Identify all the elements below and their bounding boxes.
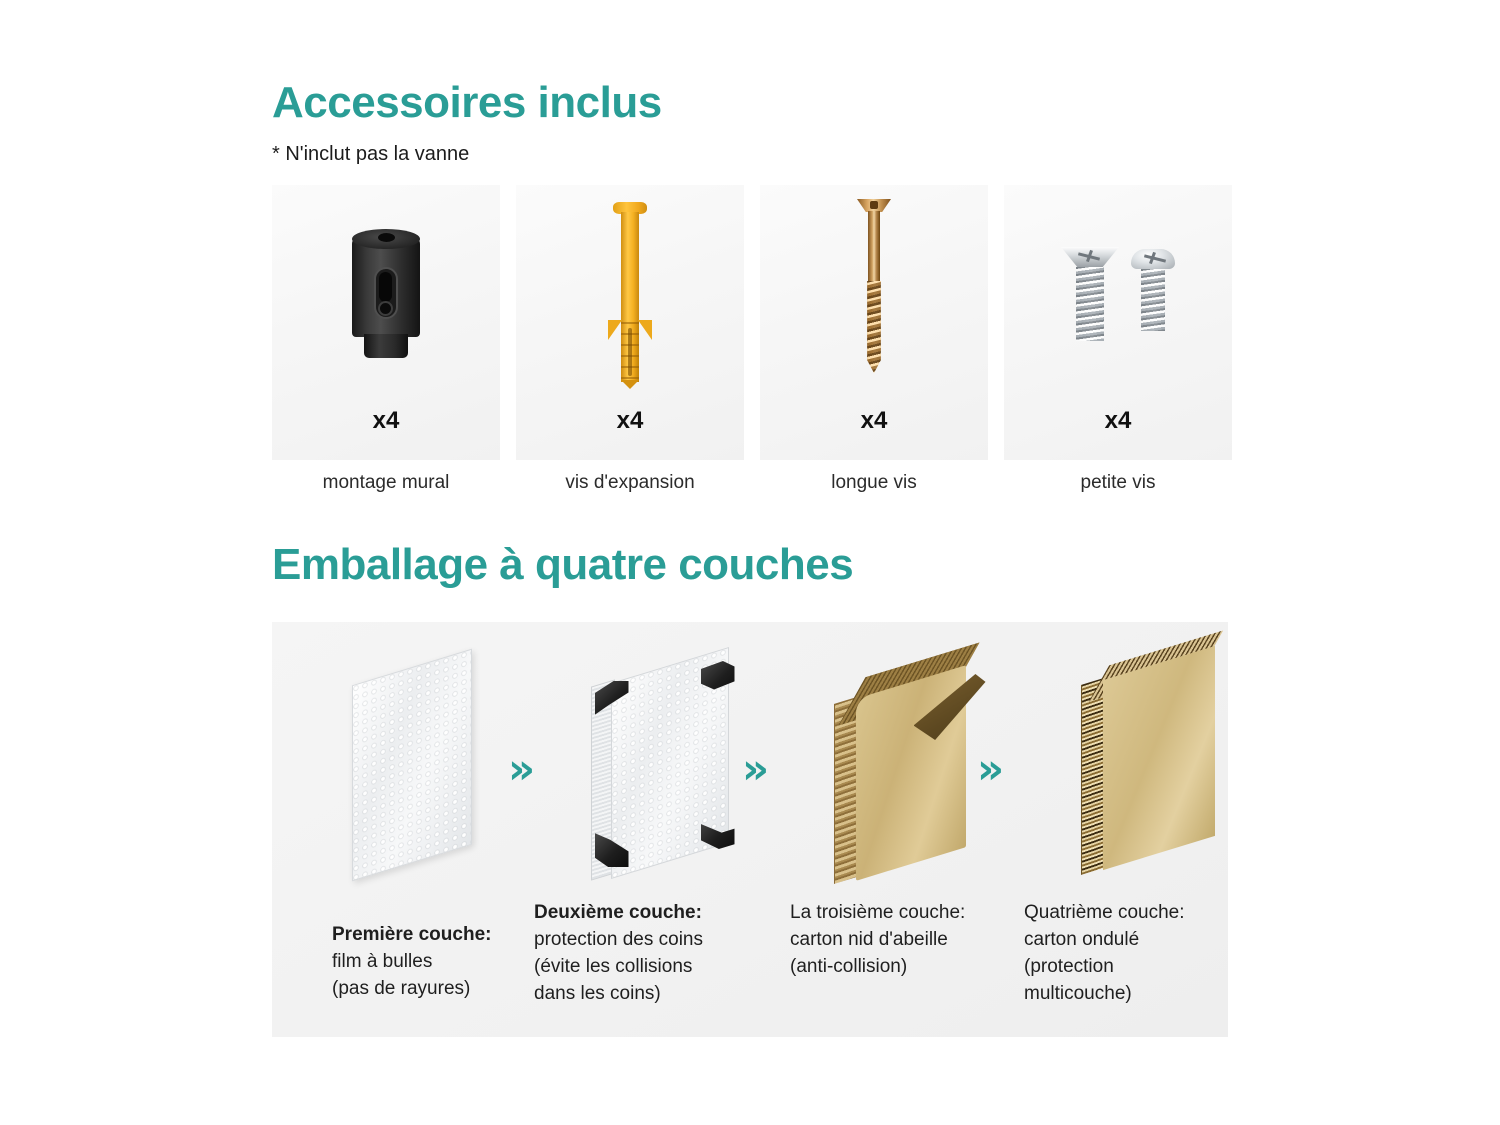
long-screw-icon bbox=[760, 185, 988, 403]
chevron-right-icon: » bbox=[508, 748, 535, 790]
packaging-layer-caption: La troisième couche: carton nid d'abeill… bbox=[790, 900, 1005, 981]
layer-line: protection des coins bbox=[534, 929, 703, 950]
packaging-layer-caption: Première couche: film à bulles (pas de r… bbox=[332, 922, 547, 1003]
layer-line: film à bulles bbox=[332, 951, 432, 972]
accessory-caption: montage mural bbox=[272, 472, 500, 494]
layer-lead: Première couche: bbox=[332, 922, 547, 949]
accessories-section-title: Accessoires inclus bbox=[272, 78, 662, 128]
expansion-anchor-icon bbox=[516, 185, 744, 403]
accessory-card-wall-mount: x4 bbox=[272, 185, 500, 460]
packaging-layer-caption: Quatrième couche: carton ondulé (protect… bbox=[1024, 900, 1224, 1008]
packaging-layers-row: » » » bbox=[272, 640, 1228, 890]
accessory-caption: longue vis bbox=[760, 472, 988, 494]
layer-line: multicouche) bbox=[1024, 983, 1132, 1004]
layer-line: (pas de rayures) bbox=[332, 978, 470, 999]
quantity-badge: x4 bbox=[760, 407, 988, 435]
layer-line: (évite les collisions bbox=[534, 956, 692, 977]
quantity-badge: x4 bbox=[516, 407, 744, 435]
accessory-card-small-screw: x4 bbox=[1004, 185, 1232, 460]
layer-line: (protection bbox=[1024, 956, 1114, 977]
packaging-layer-caption: Deuxième couche: protection des coins (é… bbox=[534, 900, 754, 1008]
wall-mount-icon bbox=[272, 185, 500, 403]
accessories-captions: montage mural vis d'expansion longue vis… bbox=[272, 472, 1228, 494]
bubble-film-icon bbox=[324, 640, 499, 890]
accessories-note: * N'inclut pas la vanne bbox=[272, 143, 469, 166]
honeycomb-board-icon bbox=[820, 640, 995, 890]
layer-lead: Deuxième couche: bbox=[534, 900, 754, 927]
layer-lead: La troisième couche: bbox=[790, 900, 1005, 927]
layer-line: carton nid d'abeille bbox=[790, 929, 948, 950]
chevron-right-icon: » bbox=[977, 748, 1004, 790]
accessory-caption: petite vis bbox=[1004, 472, 1232, 494]
layer-line: (anti-collision) bbox=[790, 956, 907, 977]
small-screw-icon bbox=[1004, 185, 1232, 403]
accessory-card-expansion-anchor: x4 bbox=[516, 185, 744, 460]
packaging-panel: » » » bbox=[272, 622, 1228, 1037]
corrugated-board-icon bbox=[1062, 640, 1237, 890]
layer-line: carton ondulé bbox=[1024, 929, 1139, 950]
chevron-right-icon: » bbox=[742, 748, 769, 790]
product-info-page: Accessoires inclus * N'inclut pas la van… bbox=[0, 0, 1500, 1125]
quantity-badge: x4 bbox=[1004, 407, 1232, 435]
accessory-caption: vis d'expansion bbox=[516, 472, 744, 494]
packaging-section-title: Emballage à quatre couches bbox=[272, 540, 853, 590]
quantity-badge: x4 bbox=[272, 407, 500, 435]
accessories-grid: x4 x4 bbox=[272, 185, 1228, 460]
layer-line: dans les coins) bbox=[534, 983, 661, 1004]
layer-lead: Quatrième couche: bbox=[1024, 900, 1224, 927]
corner-protector-icon bbox=[572, 640, 747, 890]
accessory-card-long-screw: x4 bbox=[760, 185, 988, 460]
